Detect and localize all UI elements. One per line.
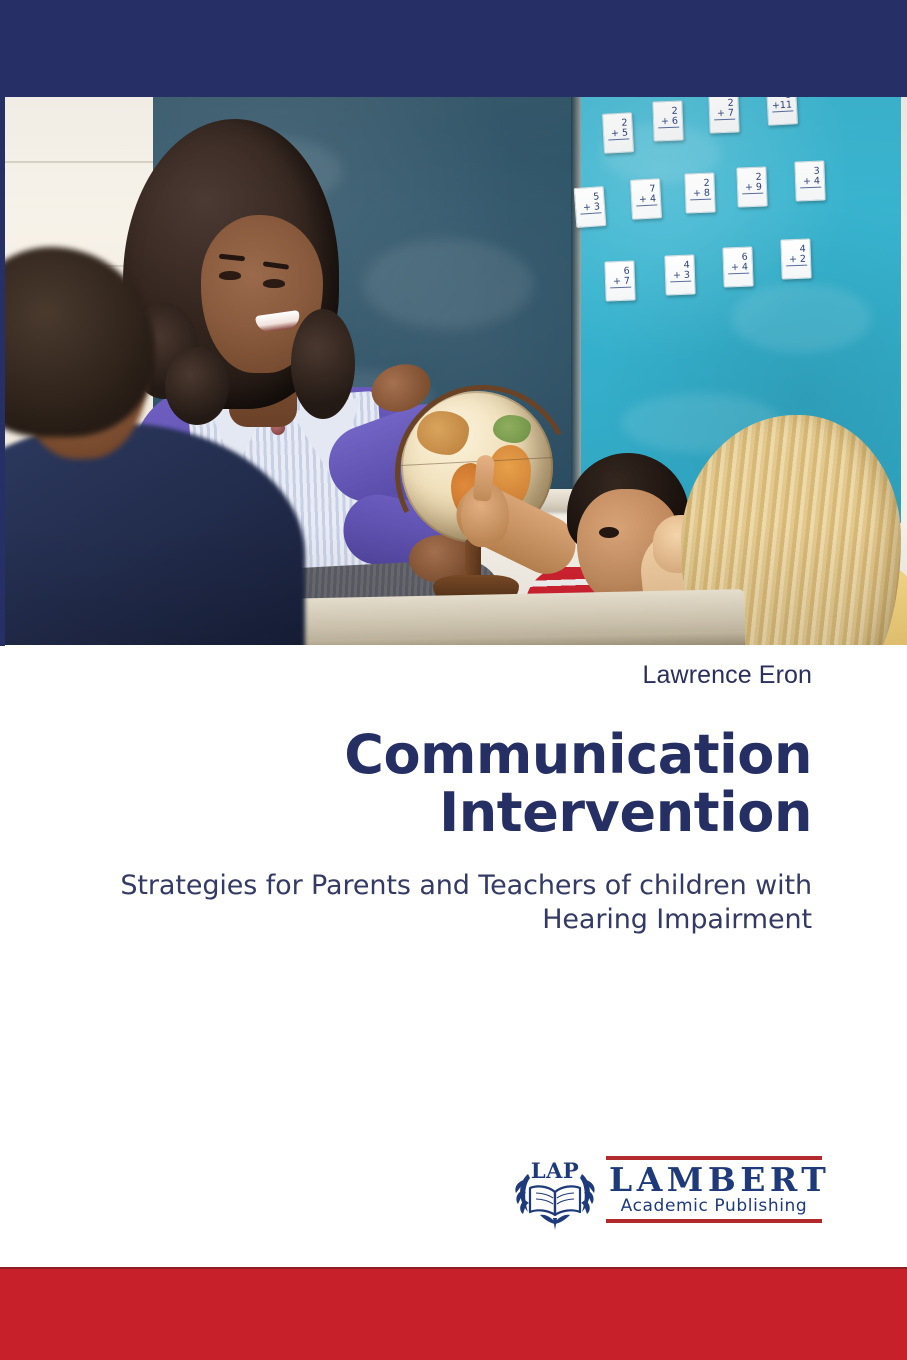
- flash-card: 7 + 4: [630, 178, 662, 220]
- flash-card: 2 + 8: [684, 172, 715, 213]
- book-title-line-2: Intervention: [95, 784, 812, 842]
- cover-text-block: Lawrence Eron Communication Intervention…: [95, 660, 812, 938]
- flash-card: 2 + 7: [708, 97, 739, 134]
- teacher-hair-curl: [291, 309, 355, 419]
- book-cover: 2 + 5 2 + 6 2 + 7 3 +11 5 +: [0, 0, 907, 1360]
- publisher-logo: LAP LAMBERT Academic Publishing: [512, 1152, 822, 1232]
- top-navy-band: [0, 0, 907, 97]
- publisher-tagline: Academic Publishing: [606, 1198, 822, 1216]
- book-subtitle-line-1: Strategies for Parents and Teachers of c…: [95, 869, 812, 904]
- book-title: Communication Intervention: [95, 726, 812, 843]
- flash-card: 3 + 4: [794, 160, 825, 201]
- flash-card: 5 + 3: [574, 186, 607, 228]
- cover-photo: 2 + 5 2 + 6 2 + 7 3 +11 5 +: [5, 97, 907, 645]
- flash-card: 2 + 5: [602, 112, 634, 154]
- boy-eye: [599, 527, 619, 538]
- flash-card: 4 + 2: [780, 238, 811, 279]
- publisher-wordmark: LAMBERT Academic Publishing: [606, 1156, 822, 1223]
- flash-card: 2 + 6: [652, 100, 683, 141]
- bottom-red-band: [0, 1267, 907, 1360]
- teacher-eye-right: [263, 279, 285, 288]
- svg-text:LAP: LAP: [531, 1158, 579, 1183]
- flash-card: 6 + 4: [722, 246, 753, 287]
- book-subtitle: Strategies for Parents and Teachers of c…: [95, 869, 812, 938]
- book-title-line-1: Communication: [95, 726, 812, 784]
- logo-rule-bottom: [606, 1219, 822, 1223]
- lap-emblem-icon: LAP: [512, 1152, 598, 1232]
- teacher-hair-curl: [165, 347, 229, 425]
- author-name: Lawrence Eron: [95, 660, 812, 690]
- flash-card: 6 + 7: [604, 260, 635, 301]
- flash-card: 3 +11: [766, 97, 798, 126]
- publisher-name: LAMBERT: [606, 1163, 822, 1197]
- flash-card: 4 + 3: [664, 254, 695, 295]
- flash-card: 2 + 9: [736, 166, 767, 207]
- teacher-eye-left: [219, 271, 241, 280]
- book-subtitle-line-2: Hearing Impairment: [95, 903, 812, 938]
